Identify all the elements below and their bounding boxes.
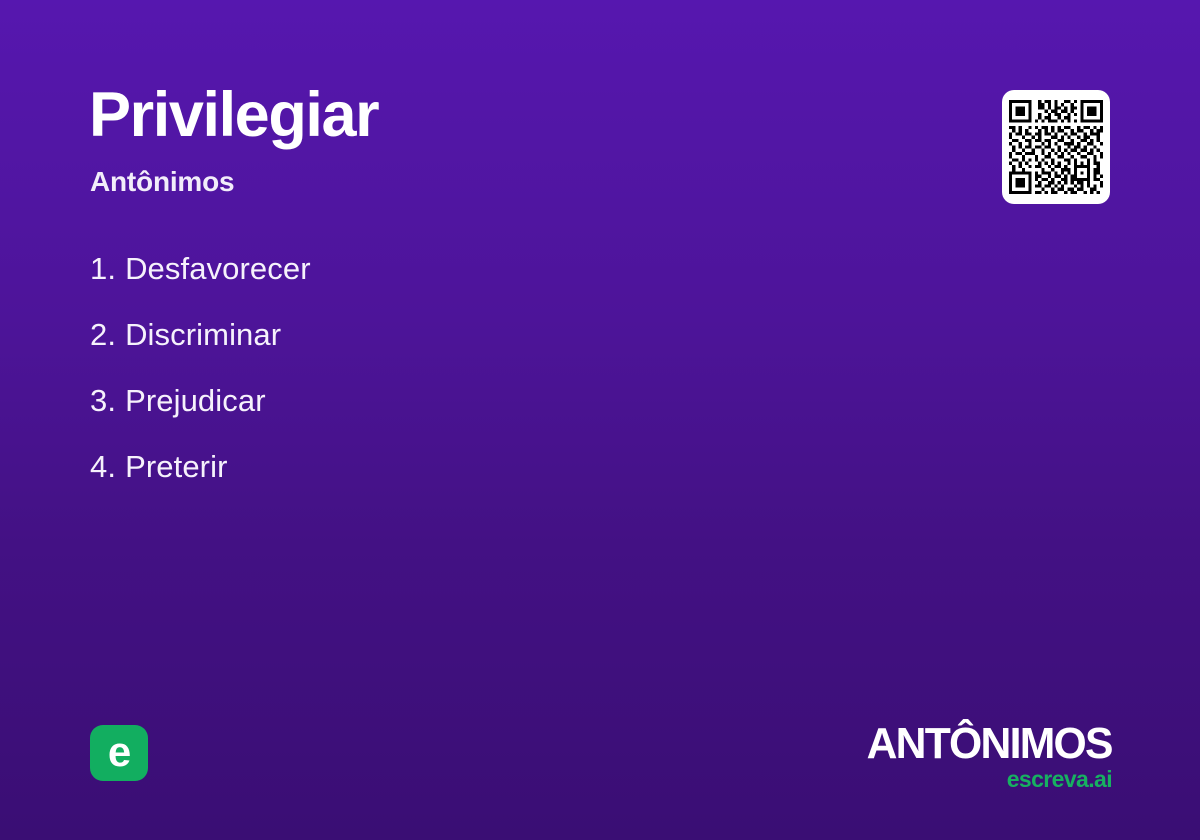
antonyms-list: 1.Desfavorecer 2.Discriminar 3.Prejudica…: [90, 236, 810, 500]
page-subtitle: Antônimos: [90, 168, 234, 196]
list-item: 3.Prejudicar: [90, 368, 810, 434]
list-item-term: Desfavorecer: [125, 251, 311, 286]
wordmark-title: ANTÔNIMOS: [867, 722, 1112, 766]
list-item: 2.Discriminar: [90, 302, 810, 368]
list-item: 4.Preterir: [90, 434, 810, 500]
list-item-index: 2.: [90, 317, 116, 352]
page-title: Privilegiar: [89, 84, 378, 147]
antonyms-card: Privilegiar Antônimos 1.Desfavorecer 2.D…: [0, 0, 1200, 840]
list-item-index: 4.: [90, 449, 116, 484]
list-item: 1.Desfavorecer: [90, 236, 810, 302]
escreva-logo-letter: e: [90, 725, 148, 781]
wordmark-domain: escreva.ai: [859, 767, 1112, 791]
list-item-term: Discriminar: [125, 317, 281, 352]
escreva-logo-icon[interactable]: e: [90, 725, 148, 781]
list-item-index: 1.: [90, 251, 116, 286]
qr-code-icon[interactable]: [1002, 90, 1110, 204]
footer-wordmark: ANTÔNIMOS escreva.ai: [859, 722, 1112, 791]
list-item-term: Preterir: [125, 449, 227, 484]
list-item-index: 3.: [90, 383, 116, 418]
list-item-term: Prejudicar: [125, 383, 266, 418]
